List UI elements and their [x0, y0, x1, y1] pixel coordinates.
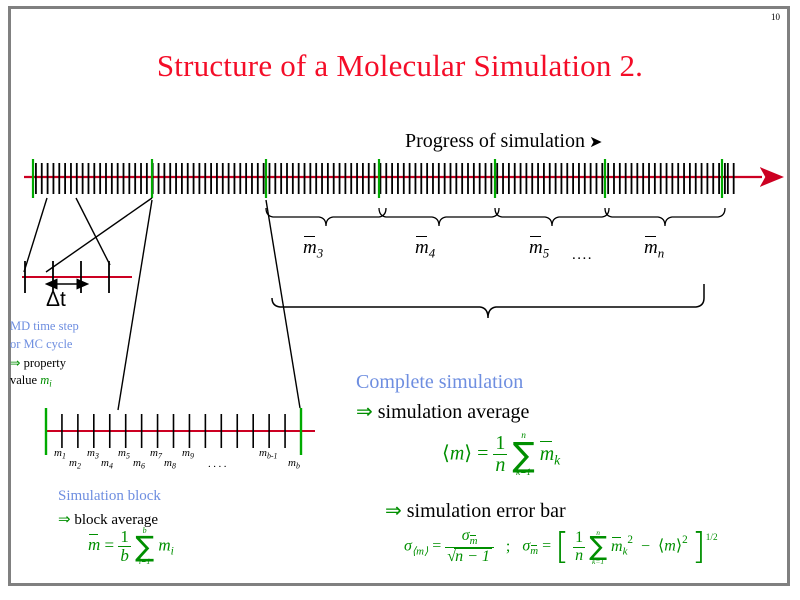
md-note-line4: value mi — [10, 372, 140, 390]
err-fraction: σm √n − 1 — [445, 528, 494, 566]
formula-summation: b ∑ i=1 — [135, 527, 154, 566]
formula-term-sub: i — [171, 544, 174, 557]
block-average-formula: m = 1 b b ∑ i=1 mi — [88, 527, 174, 566]
block-tick-label-m9: m9 — [182, 447, 194, 460]
implies-arrow-icon: ⇒ — [10, 355, 20, 370]
implies-arrow-icon: ⇒ — [58, 510, 71, 528]
err-equals: = — [432, 538, 441, 555]
complete-simulation-brace — [272, 284, 704, 318]
err-bracket-open: [ — [555, 533, 569, 562]
md-note-line3: ⇒ property — [10, 354, 140, 373]
avg-lhs: m — [450, 443, 464, 465]
complete-simulation-note: Complete simulation ⇒ simulation average — [356, 368, 529, 427]
error-bar-caption: ⇒ simulation error bar — [385, 498, 566, 523]
block-label-m3: m3 — [303, 237, 323, 262]
err-frac-num: σm — [445, 528, 494, 548]
md-note-line1: MD time step — [10, 318, 140, 336]
err-sigma-sub: ⟨m⟩ — [412, 545, 428, 557]
avg-bracket-open: ⟨ — [442, 443, 450, 465]
block-tick-label-m1: m1 — [54, 447, 66, 460]
block-label-m5: m5 — [529, 237, 549, 262]
simulation-average-text: simulation average — [378, 401, 530, 423]
block-tick-label-m2: m2 — [69, 457, 81, 470]
implies-arrow-icon: ⇒ — [385, 498, 402, 522]
block-label-m4: m4 — [415, 237, 435, 262]
avg-equals: = — [477, 443, 488, 465]
implies-arrow-icon: ⇒ — [356, 399, 373, 423]
block-tick-label-m5: m5 — [118, 447, 130, 460]
err-term-sup: 2 — [627, 534, 633, 546]
block-tick-label-m7: m7 — [150, 447, 162, 460]
err-term-sub: k — [623, 545, 628, 557]
block-tick-label-m8: m8 — [164, 457, 176, 470]
err-rhs-sigma: σ — [522, 538, 530, 555]
avg-term-sub: k — [554, 452, 560, 467]
err-rhs-equals: = — [542, 538, 551, 555]
block-tick-label-m6: m6 — [133, 457, 145, 470]
avg-term: m — [540, 443, 554, 466]
md-note-line2: or MC cycle — [10, 336, 140, 354]
err-term: m — [611, 538, 623, 556]
md-note-value-symbol: m — [40, 373, 49, 387]
formula-fraction: 1 b — [118, 528, 131, 565]
md-note-property: property — [24, 356, 66, 370]
timeline-ellipsis: .... — [572, 247, 593, 264]
simulation-block-caption: Simulation block — [58, 485, 161, 508]
err-frac-den: √n − 1 — [445, 548, 494, 566]
err-exponent: 1/2 — [706, 533, 718, 543]
md-note-value-label: value — [10, 373, 40, 387]
formula-term: m — [158, 535, 170, 554]
error-bar-text: simulation error bar — [407, 500, 566, 522]
err-sigma: σ — [404, 538, 412, 555]
err-semicolon: ; — [506, 538, 510, 555]
block-tick-label-m3: m3 — [87, 447, 99, 460]
delta-t-label: Δt — [46, 288, 66, 312]
block-label-mn: mn — [644, 237, 664, 262]
slide-root: 10 Structure of a Molecular Simulation 2… — [0, 0, 800, 600]
formula-lhs: m — [88, 535, 100, 555]
block-underbraces — [266, 208, 725, 226]
main-timeline-separators — [33, 159, 722, 198]
complete-simulation-caption: Complete simulation — [356, 368, 529, 397]
block-tick-label-mb-1: mb-1 — [259, 447, 278, 460]
simulation-average-formula: ⟨m⟩ = 1 n n ∑ k=1 mk — [442, 432, 560, 478]
block-tick-ellipsis: .... — [208, 458, 229, 470]
avg-summation: n ∑ k=1 — [512, 432, 534, 478]
err-rhs-sigma-sub: m — [530, 545, 538, 557]
err-summation: n ∑ k=1 — [589, 529, 607, 566]
err-mean: m — [664, 538, 676, 555]
avg-fraction: 1 n — [493, 433, 507, 476]
magnifier-connectors — [24, 198, 110, 272]
simulation-average-caption: ⇒ simulation average — [356, 397, 529, 427]
delta-t-ruler — [22, 261, 132, 293]
err-mean-sup: 2 — [682, 534, 688, 546]
formula-equals: = — [105, 535, 115, 554]
err-inner-fraction: 1 n — [573, 530, 585, 565]
block-tick-label-mb: mb — [288, 457, 300, 470]
md-note-value-sub: i — [49, 379, 52, 389]
avg-bracket-close: ⟩ — [464, 443, 472, 465]
err-minus: − — [641, 538, 650, 555]
time-step-note: MD time step or MC cycle ⇒ property valu… — [10, 318, 140, 391]
block-tick-label-m4: m4 — [101, 457, 113, 470]
error-bar-formula: σ⟨m⟩ = σm √n − 1 ; σm = [ 1 n n ∑ k=1 mk… — [404, 528, 718, 566]
err-bracket-close: ] — [692, 533, 706, 562]
main-timeline-ticks — [36, 163, 734, 194]
